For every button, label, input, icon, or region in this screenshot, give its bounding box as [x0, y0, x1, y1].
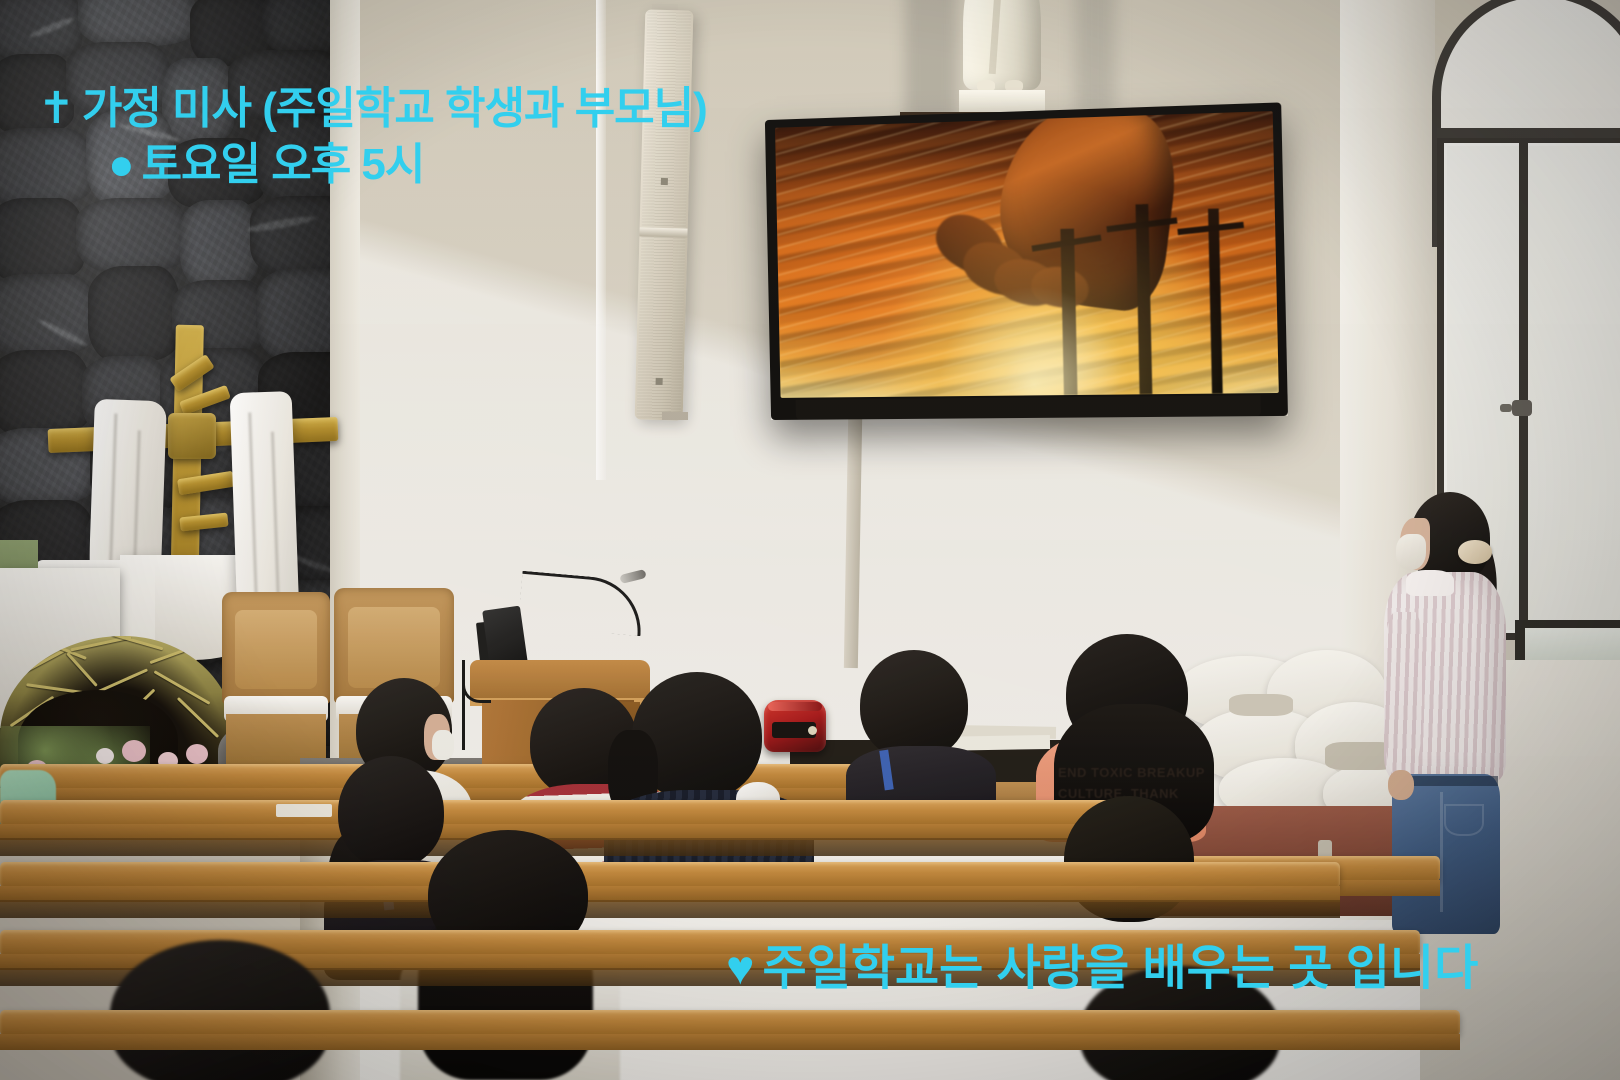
- church-photo-scene: END TOXIC BREAKUP CULTURE. THANK YOU: [0, 0, 1620, 1080]
- heart-icon: ♥: [726, 941, 755, 996]
- overlay-line1-text: 가정 미사 (주일학교 학생과 부모님): [82, 84, 707, 133]
- window-latch[interactable]: [1500, 404, 1512, 412]
- face-mask: [1396, 534, 1426, 570]
- hair-clip: [1458, 540, 1492, 564]
- cross-icon: ✝: [38, 83, 74, 134]
- window-handle[interactable]: [1512, 400, 1532, 416]
- person-lanyard-boy: [846, 650, 991, 810]
- statue-shadow: [1075, 0, 1115, 115]
- pew-row-front: [0, 1010, 1460, 1080]
- sanctuary-chair: [222, 592, 330, 772]
- overlay-text-family-mass: ✝가정 미사 (주일학교 학생과 부모님): [38, 72, 707, 136]
- podium-monitor: [482, 606, 528, 669]
- window-rail: [1437, 128, 1620, 138]
- overlay-text-tagline: ♥주일학교는 사랑을 배우는 곳 입니다: [726, 928, 1478, 998]
- religious-statue: [955, 0, 1050, 118]
- tshirt-slogan-line1: END TOXIC BREAKUP: [1058, 762, 1208, 783]
- overlay-line3-text: 주일학교는 사랑을 배우는 곳 입니다: [763, 942, 1479, 995]
- overlay-text-schedule: ●토요일 오후 5시: [108, 128, 424, 192]
- flower: [96, 748, 114, 764]
- tv-lower-bezel: [795, 395, 1261, 420]
- bullet-circle-icon: ●: [108, 140, 134, 190]
- flower: [186, 744, 208, 764]
- cross-knot: [168, 413, 216, 459]
- speaker-bracket: [662, 412, 688, 420]
- flower: [122, 740, 146, 762]
- overlay-line2-text: 토요일 오후 5시: [142, 140, 425, 189]
- statue-shadow: [905, 0, 957, 120]
- wall-mounted-tv[interactable]: [765, 102, 1288, 420]
- tv-screen: [775, 111, 1279, 398]
- window-mullion: [1519, 140, 1528, 625]
